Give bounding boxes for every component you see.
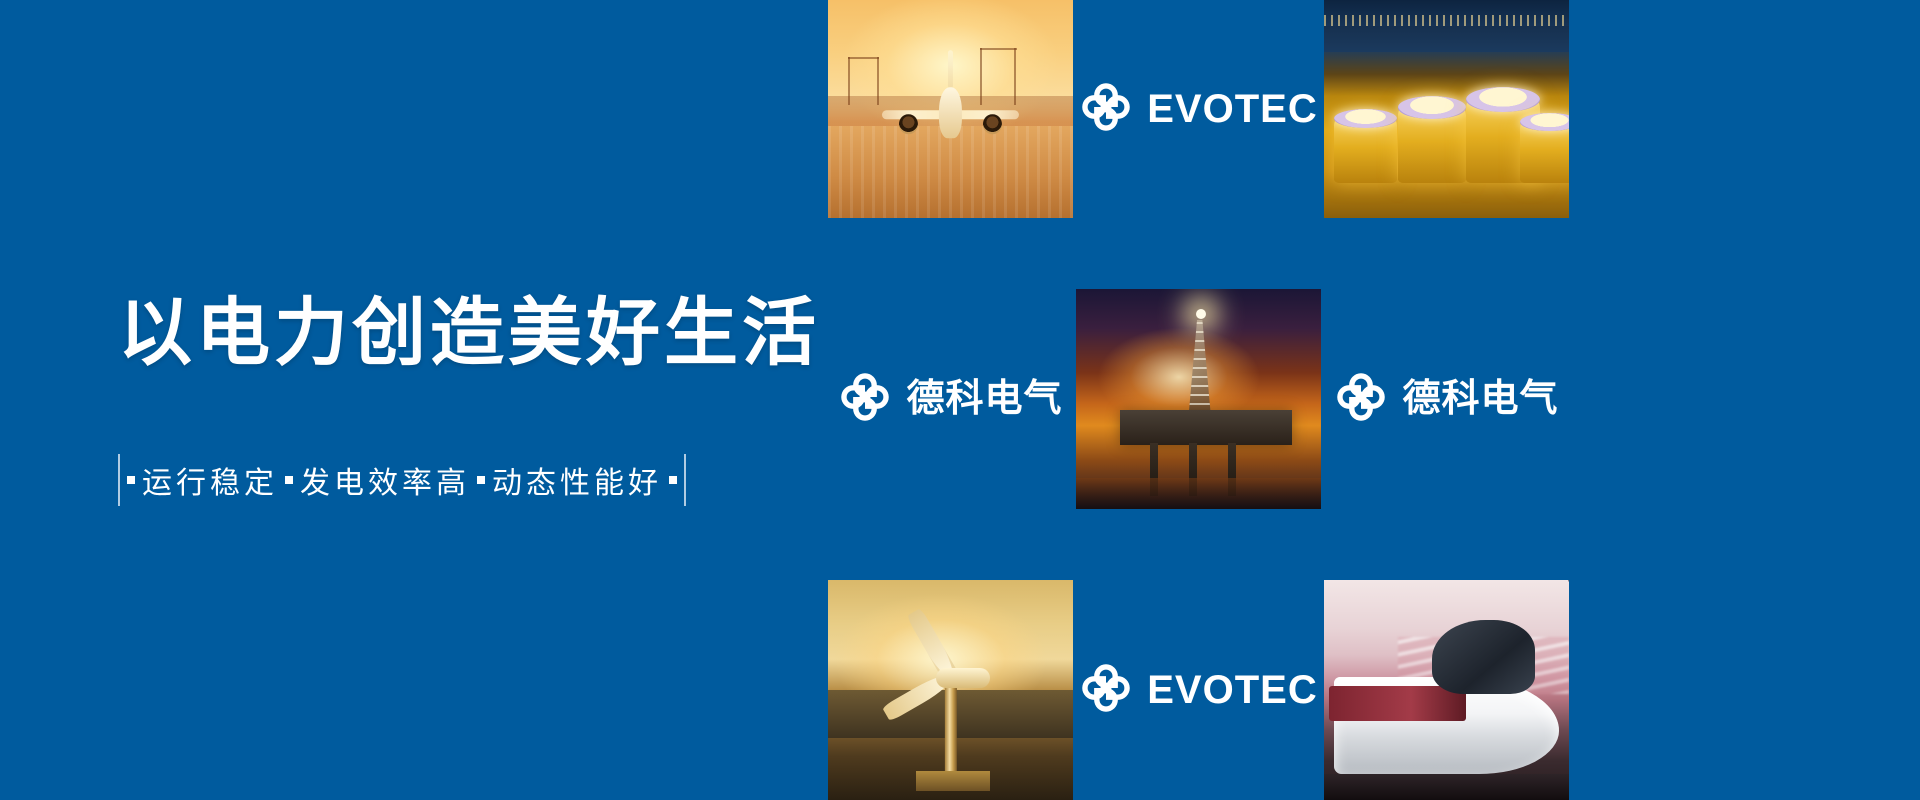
subtitle-item-2: 发电效率高 bbox=[300, 458, 470, 502]
grid-cell-oil-tank-farm bbox=[1324, 0, 1569, 218]
square-bullet-icon bbox=[285, 476, 293, 484]
square-bullet-icon bbox=[669, 476, 677, 484]
evotec-wordmark: EVOTEC bbox=[1147, 89, 1317, 129]
evotec-pinwheel-icon bbox=[1079, 80, 1133, 139]
hero-subtitle-row: 运行稳定 发电效率高 动态性能好 bbox=[118, 452, 828, 508]
grid-cell-airplane-cargo-port bbox=[828, 0, 1073, 218]
grid-cell-deke-logo-right[interactable]: 德科电气 bbox=[1324, 289, 1569, 509]
grid-cell-evotec-logo-bottom[interactable]: EVOTEC bbox=[1076, 580, 1321, 800]
hero-copy-panel: 以电力创造美好生活 运行稳定 发电效率高 动态性能好 bbox=[0, 0, 828, 800]
subtitle-rule-right bbox=[684, 454, 686, 506]
evotec-wordmark: EVOTEC bbox=[1147, 670, 1317, 710]
subtitle-item-1: 运行稳定 bbox=[142, 458, 278, 502]
grid-cell-wind-turbine bbox=[828, 580, 1073, 800]
square-bullet-icon bbox=[477, 476, 485, 484]
square-bullet-icon bbox=[127, 476, 135, 484]
grid-cell-high-speed-train bbox=[1324, 580, 1569, 800]
page-title: 以电力创造美好生活 bbox=[118, 292, 828, 373]
grid-cell-evotec-logo-top[interactable]: EVOTEC bbox=[1076, 0, 1321, 218]
grid-cell-offshore-oil-rig bbox=[1076, 289, 1321, 509]
evotec-pinwheel-icon bbox=[1334, 370, 1388, 429]
subtitle-rule-left bbox=[118, 454, 120, 506]
evotec-pinwheel-icon bbox=[838, 370, 892, 429]
subtitle-item-list: 运行稳定 发电效率高 动态性能好 bbox=[120, 458, 684, 502]
evotec-pinwheel-icon bbox=[1079, 661, 1133, 720]
deke-wordmark: 德科电气 bbox=[1402, 380, 1558, 418]
rig-flare-light bbox=[1196, 309, 1206, 319]
grid-cell-deke-logo-left[interactable]: 德科电气 bbox=[828, 289, 1073, 509]
airplane-silhouette bbox=[879, 81, 1021, 146]
brand-photo-grid: EVOTEC 德科电气 bbox=[828, 0, 1920, 800]
deke-wordmark: 德科电气 bbox=[906, 380, 1062, 418]
subtitle-item-3: 动态性能好 bbox=[492, 458, 662, 502]
